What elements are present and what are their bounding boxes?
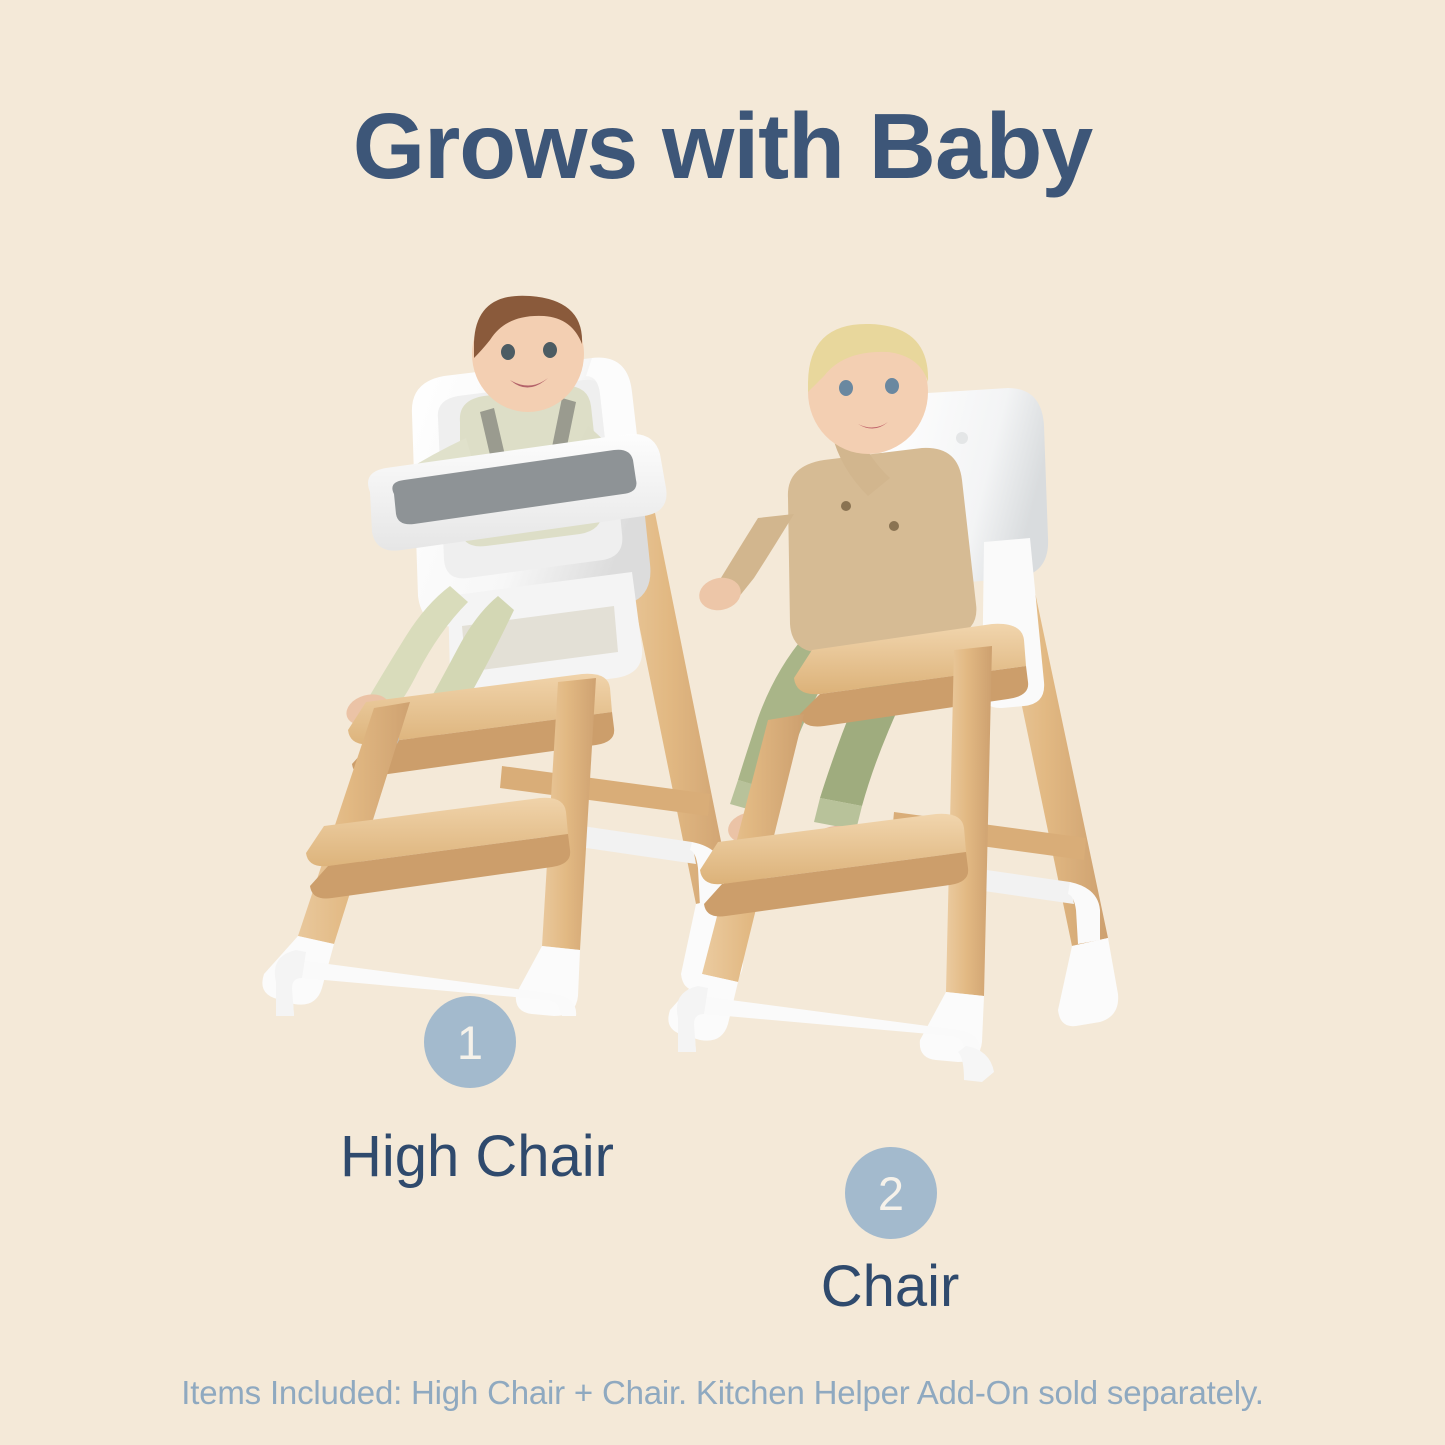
- step-badge-2: 2: [845, 1147, 937, 1239]
- step-label-chair: Chair: [790, 1258, 990, 1316]
- step-badge-1: 1: [424, 996, 516, 1088]
- items-included-footnote: Items Included: High Chair + Chair. Kitc…: [0, 1374, 1445, 1412]
- infographic-canvas: Grows with Baby: [0, 0, 1445, 1445]
- product-image-chair: [672, 382, 1142, 1082]
- page-title: Grows with Baby: [0, 96, 1445, 196]
- step-badge-2-number: 2: [878, 1170, 904, 1217]
- step-badge-1-number: 1: [457, 1019, 483, 1066]
- step-label-high-chair: High Chair: [340, 1128, 600, 1186]
